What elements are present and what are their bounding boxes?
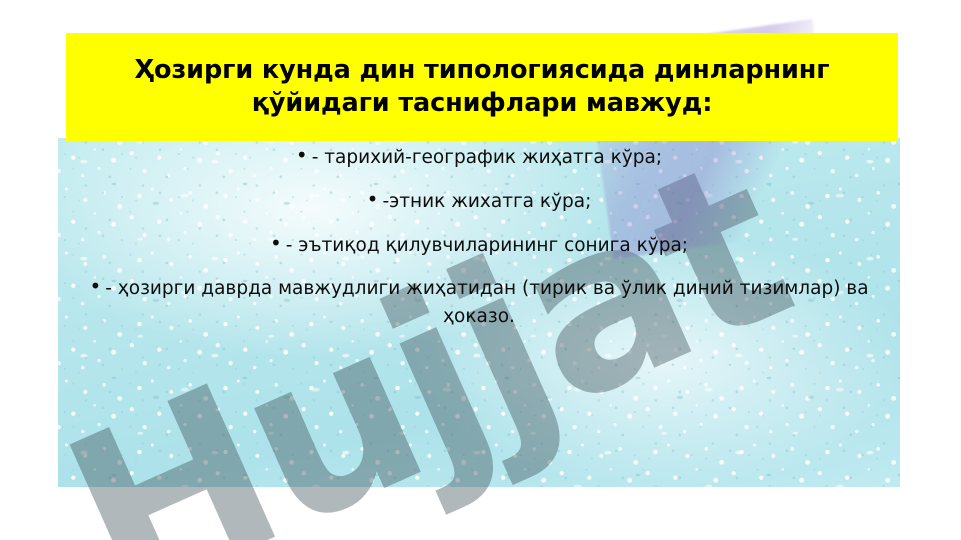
list-item-label: - тарихий-географик жиҳатга кўра; — [312, 147, 662, 168]
bullet-point-icon: • — [89, 274, 101, 298]
bullet-point-icon: • — [270, 231, 282, 255]
list-item: •- ҳозирги даврда мавжудлиги жиҳатидан (… — [58, 275, 900, 331]
list-item: •- тарихий-географик жиҳатга кўра; — [58, 144, 900, 172]
list-item-label: - ҳозирги даврда мавжудлиги жиҳатидан (т… — [105, 278, 874, 327]
bullet-point-icon: • — [367, 187, 379, 211]
list-item: •- эътиқод қилувчиларининг сонига кўра; — [58, 232, 900, 260]
list-item-inner: •-этник жихатга кўра; — [367, 188, 592, 216]
slide-title: Ҳозирги кунда дин типологиясида динларни… — [74, 54, 890, 119]
list-item: •-этник жихатга кўра; — [58, 188, 900, 216]
bullet-point-icon: • — [296, 143, 308, 167]
list-item-inner: •- эътиқод қилувчиларининг сонига кўра; — [270, 232, 688, 260]
list-item-label: - эътиқод қилувчиларининг сонига кўра; — [286, 235, 688, 256]
list-item-inner: •- ҳозирги даврда мавжудлиги жиҳатидан (… — [84, 275, 874, 331]
slide-title-band: Ҳозирги кунда дин типологиясида динларни… — [66, 33, 898, 141]
list-item-label: -этник жихатга кўра; — [382, 191, 591, 212]
list-item-inner: •- тарихий-географик жиҳатга кўра; — [296, 144, 662, 172]
presentation-slide: Hujjat Ҳозирги кунда дин типологиясида д… — [0, 0, 961, 540]
bullet-list: •- тарихий-географик жиҳатга кўра; •-этн… — [58, 144, 900, 331]
